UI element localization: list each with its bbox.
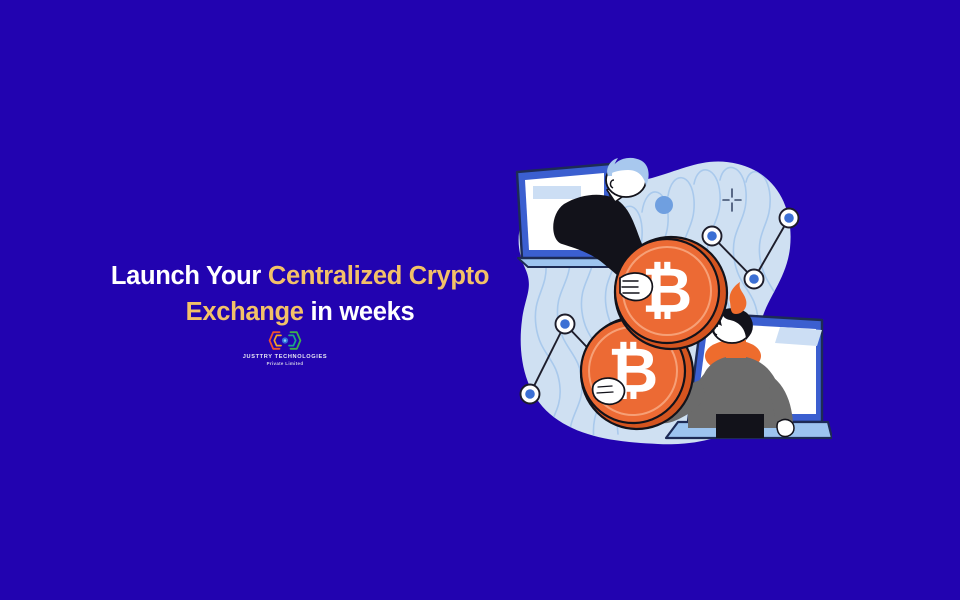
copy-block: Launch Your Centralized CryptoExchange i…: [90, 258, 510, 330]
headline-part-4: in weeks: [304, 298, 415, 326]
headline-part-2: Centralized Crypto: [268, 262, 489, 290]
logo-company-name: JUSTTRY TECHNOLOGIES: [232, 354, 338, 361]
page-title: Launch Your Centralized CryptoExchange i…: [90, 258, 510, 330]
brand-logo: JUSTTRY TECHNOLOGIES Private Limited: [232, 330, 338, 367]
hero-illustration: ₿ ₿: [492, 150, 832, 462]
headline-part-3: Exchange: [186, 298, 304, 326]
logo-subtitle: Private Limited: [232, 361, 338, 367]
hand-bottom-overlay: [593, 378, 625, 404]
headline-part-1: Launch Your: [111, 262, 268, 290]
illustration-svg: ₿ ₿: [492, 150, 832, 462]
accent-dot: [655, 196, 673, 214]
promo-banner: Launch Your Centralized CryptoExchange i…: [0, 0, 960, 600]
hand-top-overlay: [620, 273, 652, 301]
hexagon-bracket-logo-icon: [268, 330, 302, 351]
